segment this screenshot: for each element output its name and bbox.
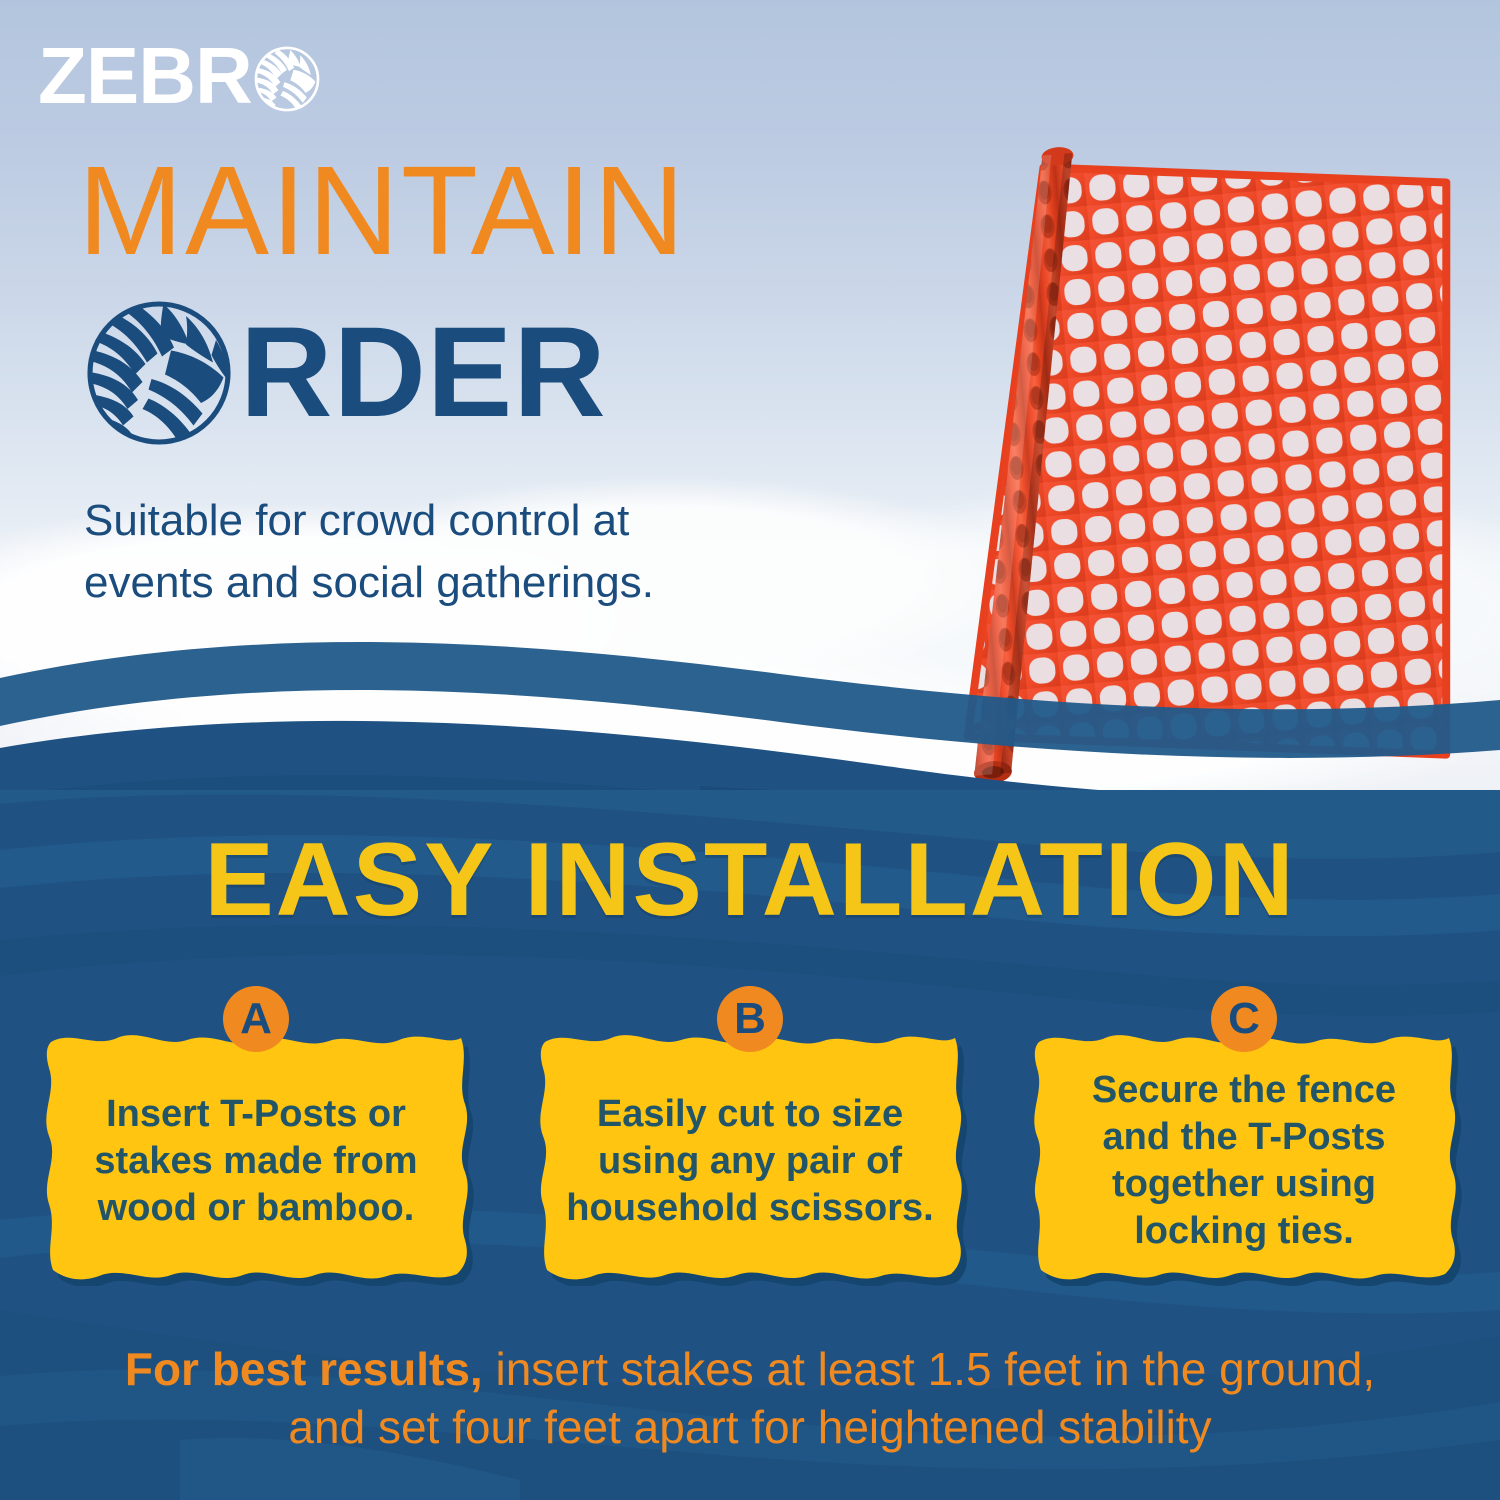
brand-name: ZEBR — [38, 36, 252, 116]
headline-order: RDER — [240, 309, 607, 437]
step-card-b: Easily cut to size using any pair of hou… — [531, 1008, 969, 1286]
step-card-c: Secure the fence and the T-Posts togethe… — [1025, 1008, 1463, 1286]
step-badge-b: B — [717, 986, 783, 1052]
step-card-a: Insert T-Posts or stakes made from wood … — [37, 1008, 475, 1286]
step-badge-c: C — [1211, 986, 1277, 1052]
installation-steps: Insert T-Posts or stakes made from wood … — [0, 1008, 1500, 1298]
installation-title: EASY INSTALLATION — [0, 828, 1500, 932]
brand-logo: ZEBR — [38, 36, 320, 116]
footer-bold-prefix: For best results, — [125, 1343, 483, 1395]
headline-maintain: MAINTAIN — [78, 148, 687, 274]
step-badge-a: A — [223, 986, 289, 1052]
headline-order-row: RDER — [84, 298, 607, 448]
infographic-canvas: ZEBR MAINTAIN — [0, 0, 1500, 1500]
zebra-head-circle-icon — [254, 46, 320, 112]
hero-subtitle: Suitable for crowd control at events and… — [84, 490, 724, 614]
zebra-head-circle-icon — [84, 298, 234, 448]
footer-note: For best results, insert stakes at least… — [90, 1340, 1410, 1456]
